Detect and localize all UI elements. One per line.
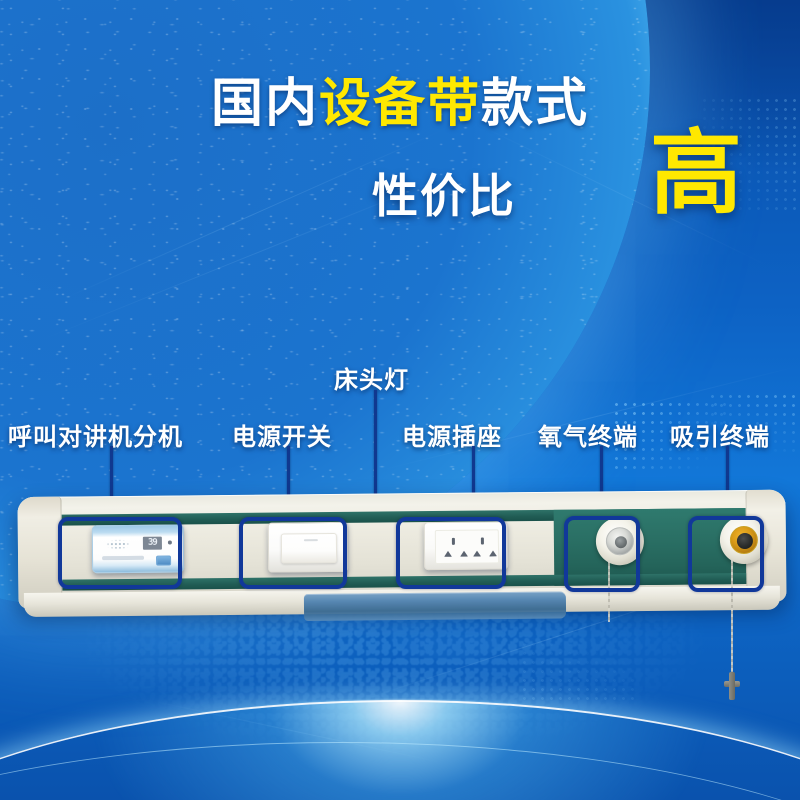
callout-label-bed-lamp: 床头灯 bbox=[334, 360, 409, 395]
promo-banner-stage: 国内设备带款式 性价比 高 呼叫对讲机分机电源开关床头灯电源插座氧气终端吸引终端… bbox=[0, 0, 800, 800]
handle-shaft bbox=[729, 672, 735, 700]
pull-cord-handle[interactable] bbox=[722, 672, 742, 700]
oxygen-highlight bbox=[564, 516, 640, 592]
callout-label-power-switch: 电源开关 bbox=[232, 417, 332, 452]
callout-label-power-socket: 电源插座 bbox=[402, 417, 502, 452]
callout-label-intercom: 呼叫对讲机分机 bbox=[8, 417, 183, 452]
callout-label-suction-outlet: 吸引终端 bbox=[670, 417, 770, 452]
callout-label-oxygen-outlet: 氧气终端 bbox=[538, 417, 638, 452]
callout-group: 呼叫对讲机分机电源开关床头灯电源插座氧气终端吸引终端 bbox=[0, 0, 800, 800]
socket-highlight bbox=[396, 517, 506, 589]
switch-highlight bbox=[239, 517, 347, 589]
suction-highlight bbox=[688, 516, 764, 592]
intercom-highlight bbox=[58, 517, 182, 589]
panel-blue-slider-cover[interactable] bbox=[304, 591, 566, 621]
